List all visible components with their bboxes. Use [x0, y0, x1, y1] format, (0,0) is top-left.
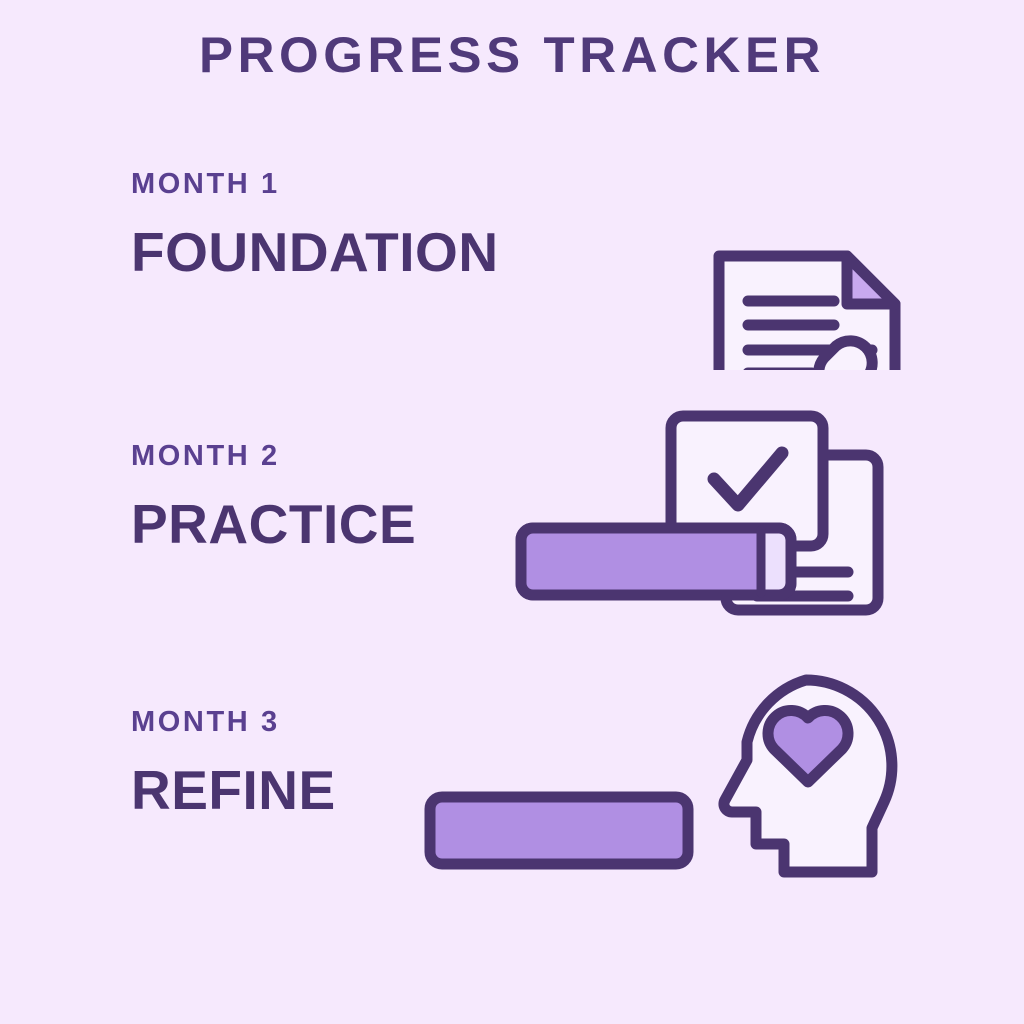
- month-label-1: MONTH 1: [131, 170, 499, 199]
- heart-icon: [768, 710, 848, 782]
- phase-label-1: FOUNDATION: [131, 225, 499, 280]
- progress-row-month-3: MONTH 3 REFINE: [0, 660, 1024, 900]
- document-icon: [719, 256, 895, 370]
- page-title: PROGRESS TRACKER: [0, 30, 1024, 80]
- row-1-text-block: MONTH 1 FOUNDATION: [131, 170, 499, 280]
- link-icon: [778, 341, 872, 370]
- progress-bar-3: [430, 797, 688, 864]
- checkbox-check-icon: [671, 416, 823, 546]
- progress-row-month-2: MONTH 2 PRACTICE: [0, 400, 1024, 635]
- phase-label-3: REFINE: [131, 763, 336, 818]
- row-3-text-block: MONTH 3 REFINE: [131, 708, 336, 818]
- month-label-2: MONTH 2: [131, 442, 416, 471]
- phase-label-2: PRACTICE: [131, 497, 416, 552]
- head-profile-icon: [724, 680, 892, 872]
- progress-tracker-poster: PROGRESS TRACKER MONTH 1 FOUNDATION: [0, 0, 1024, 1024]
- lined-document-icon: [726, 455, 878, 610]
- progress-bar-2: [521, 528, 791, 595]
- row-2-text-block: MONTH 2 PRACTICE: [131, 442, 416, 552]
- month-label-3: MONTH 3: [131, 708, 336, 737]
- progress-row-month-1: MONTH 1 FOUNDATION: [0, 120, 1024, 370]
